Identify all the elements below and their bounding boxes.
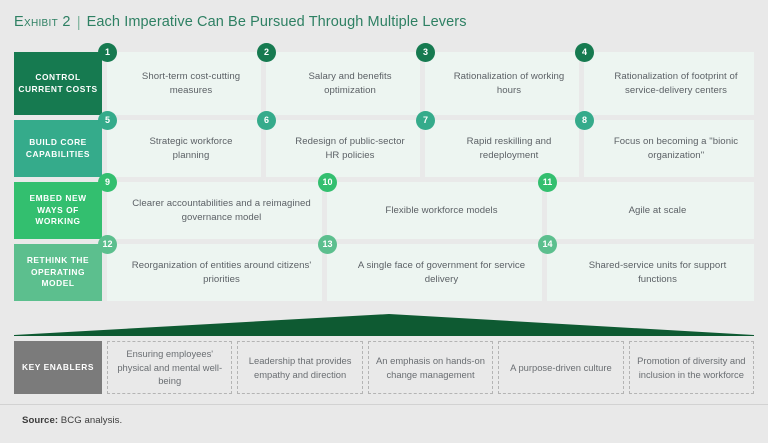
enabler-text-1: Ensuring employees' physical and mental … xyxy=(114,347,225,387)
lever-badge-5: 5 xyxy=(98,111,117,130)
lever-text-12: Reorganization of entities around citize… xyxy=(131,259,312,287)
category-label-rethink-the-operating-model: RETHINK THE OPERATING MODEL xyxy=(14,244,102,301)
lever-text-2: Salary and benefits optimization xyxy=(290,70,410,98)
lever-card-1[interactable]: 1 Short-term cost-cutting measures xyxy=(107,52,261,115)
lever-badge-12: 12 xyxy=(98,235,117,254)
enabler-card-4[interactable]: A purpose-driven culture xyxy=(498,341,623,394)
lever-badge-7: 7 xyxy=(416,111,435,130)
lever-badge-2: 2 xyxy=(257,43,276,62)
lever-card-12[interactable]: 12 Reorganization of entities around cit… xyxy=(107,244,322,301)
lever-card-10[interactable]: 10 Flexible workforce models xyxy=(327,182,542,239)
source-text: BCG analysis. xyxy=(61,415,122,426)
enabler-card-2[interactable]: Leadership that provides empathy and dir… xyxy=(237,341,362,394)
category-label-control-current-costs: CONTROL CURRENT COSTS xyxy=(14,52,102,115)
footer-divider xyxy=(0,404,768,405)
lever-text-13: A single face of government for service … xyxy=(351,259,532,287)
lever-text-11: Agile at scale xyxy=(629,204,687,218)
lever-text-14: Shared-service units for support functio… xyxy=(571,259,744,287)
enabler-group: Ensuring employees' physical and mental … xyxy=(107,341,754,394)
enabler-card-1[interactable]: Ensuring employees' physical and mental … xyxy=(107,341,232,394)
lever-text-5: Strategic workforce planning xyxy=(131,135,251,163)
lever-text-6: Redesign of public-sector HR policies xyxy=(290,135,410,163)
enabler-card-3[interactable]: An emphasis on hands-on change managemen… xyxy=(368,341,493,394)
matrix-row: EMBED NEW WAYS OF WORKING 9 Clearer acco… xyxy=(14,182,754,239)
lever-card-4[interactable]: 4 Rationalization of footprint of servic… xyxy=(584,52,754,115)
lever-group: 12 Reorganization of entities around cit… xyxy=(107,244,754,301)
lever-card-3[interactable]: 3 Rationalization of working hours xyxy=(425,52,579,115)
upward-arrow-icon xyxy=(14,314,754,336)
title-separator: | xyxy=(77,14,81,31)
lever-card-14[interactable]: 14 Shared-service units for support func… xyxy=(547,244,754,301)
lever-badge-9: 9 xyxy=(98,173,117,192)
key-enablers-row: KEY ENABLERS Ensuring employees' physica… xyxy=(14,341,754,394)
lever-badge-11: 11 xyxy=(538,173,557,192)
exhibit-container: Exhibit 2 | Each Imperative Can Be Pursu… xyxy=(0,0,768,443)
lever-card-2[interactable]: 2 Salary and benefits optimization xyxy=(266,52,420,115)
lever-text-3: Rationalization of working hours xyxy=(449,70,569,98)
lever-badge-6: 6 xyxy=(257,111,276,130)
lever-text-10: Flexible workforce models xyxy=(385,204,497,218)
lever-card-9[interactable]: 9 Clearer accountabilities and a reimagi… xyxy=(107,182,322,239)
lever-text-8: Focus on becoming a "bionic organization… xyxy=(608,135,744,163)
imperatives-matrix: CONTROL CURRENT COSTS 1 Short-term cost-… xyxy=(14,52,754,306)
lever-text-9: Clearer accountabilities and a reimagine… xyxy=(131,197,312,225)
source-note: Source: BCG analysis. xyxy=(22,415,122,426)
source-label: Source: xyxy=(22,415,58,426)
lever-card-5[interactable]: 5 Strategic workforce planning xyxy=(107,120,261,177)
lever-badge-10: 10 xyxy=(318,173,337,192)
lever-group: 9 Clearer accountabilities and a reimagi… xyxy=(107,182,754,239)
matrix-row: BUILD CORE CAPABILITIES 5 Strategic work… xyxy=(14,120,754,177)
lever-badge-14: 14 xyxy=(538,235,557,254)
lever-card-6[interactable]: 6 Redesign of public-sector HR policies xyxy=(266,120,420,177)
exhibit-number-label: Exhibit 2 xyxy=(14,14,71,30)
lever-card-11[interactable]: 11 Agile at scale xyxy=(547,182,754,239)
lever-text-1: Short-term cost-cutting measures xyxy=(131,70,251,98)
lever-card-13[interactable]: 13 A single face of government for servi… xyxy=(327,244,542,301)
enabler-card-5[interactable]: Promotion of diversity and inclusion in … xyxy=(629,341,754,394)
category-label-embed-new-ways-of-working: EMBED NEW WAYS OF WORKING xyxy=(14,182,102,239)
lever-group: 1 Short-term cost-cutting measures 2 Sal… xyxy=(107,52,754,115)
matrix-row: CONTROL CURRENT COSTS 1 Short-term cost-… xyxy=(14,52,754,115)
lever-badge-4: 4 xyxy=(575,43,594,62)
category-label-build-core-capabilities: BUILD CORE CAPABILITIES xyxy=(14,120,102,177)
exhibit-title: Exhibit 2 | Each Imperative Can Be Pursu… xyxy=(14,10,754,34)
lever-card-8[interactable]: 8 Focus on becoming a "bionic organizati… xyxy=(584,120,754,177)
lever-badge-3: 3 xyxy=(416,43,435,62)
enabler-text-4: A purpose-driven culture xyxy=(510,361,612,374)
lever-text-4: Rationalization of footprint of service-… xyxy=(608,70,744,98)
enabler-text-2: Leadership that provides empathy and dir… xyxy=(244,354,355,381)
lever-badge-13: 13 xyxy=(318,235,337,254)
enabler-text-5: Promotion of diversity and inclusion in … xyxy=(636,354,747,381)
lever-text-7: Rapid reskilling and redeployment xyxy=(449,135,569,163)
page-title: Each Imperative Can Be Pursued Through M… xyxy=(87,14,467,30)
category-label-key-enablers: KEY ENABLERS xyxy=(14,341,102,394)
lever-badge-8: 8 xyxy=(575,111,594,130)
lever-group: 5 Strategic workforce planning 6 Redesig… xyxy=(107,120,754,177)
lever-badge-1: 1 xyxy=(98,43,117,62)
lever-card-7[interactable]: 7 Rapid reskilling and redeployment xyxy=(425,120,579,177)
matrix-row: RETHINK THE OPERATING MODEL 12 Reorganiz… xyxy=(14,244,754,301)
enabler-text-3: An emphasis on hands-on change managemen… xyxy=(375,354,486,381)
